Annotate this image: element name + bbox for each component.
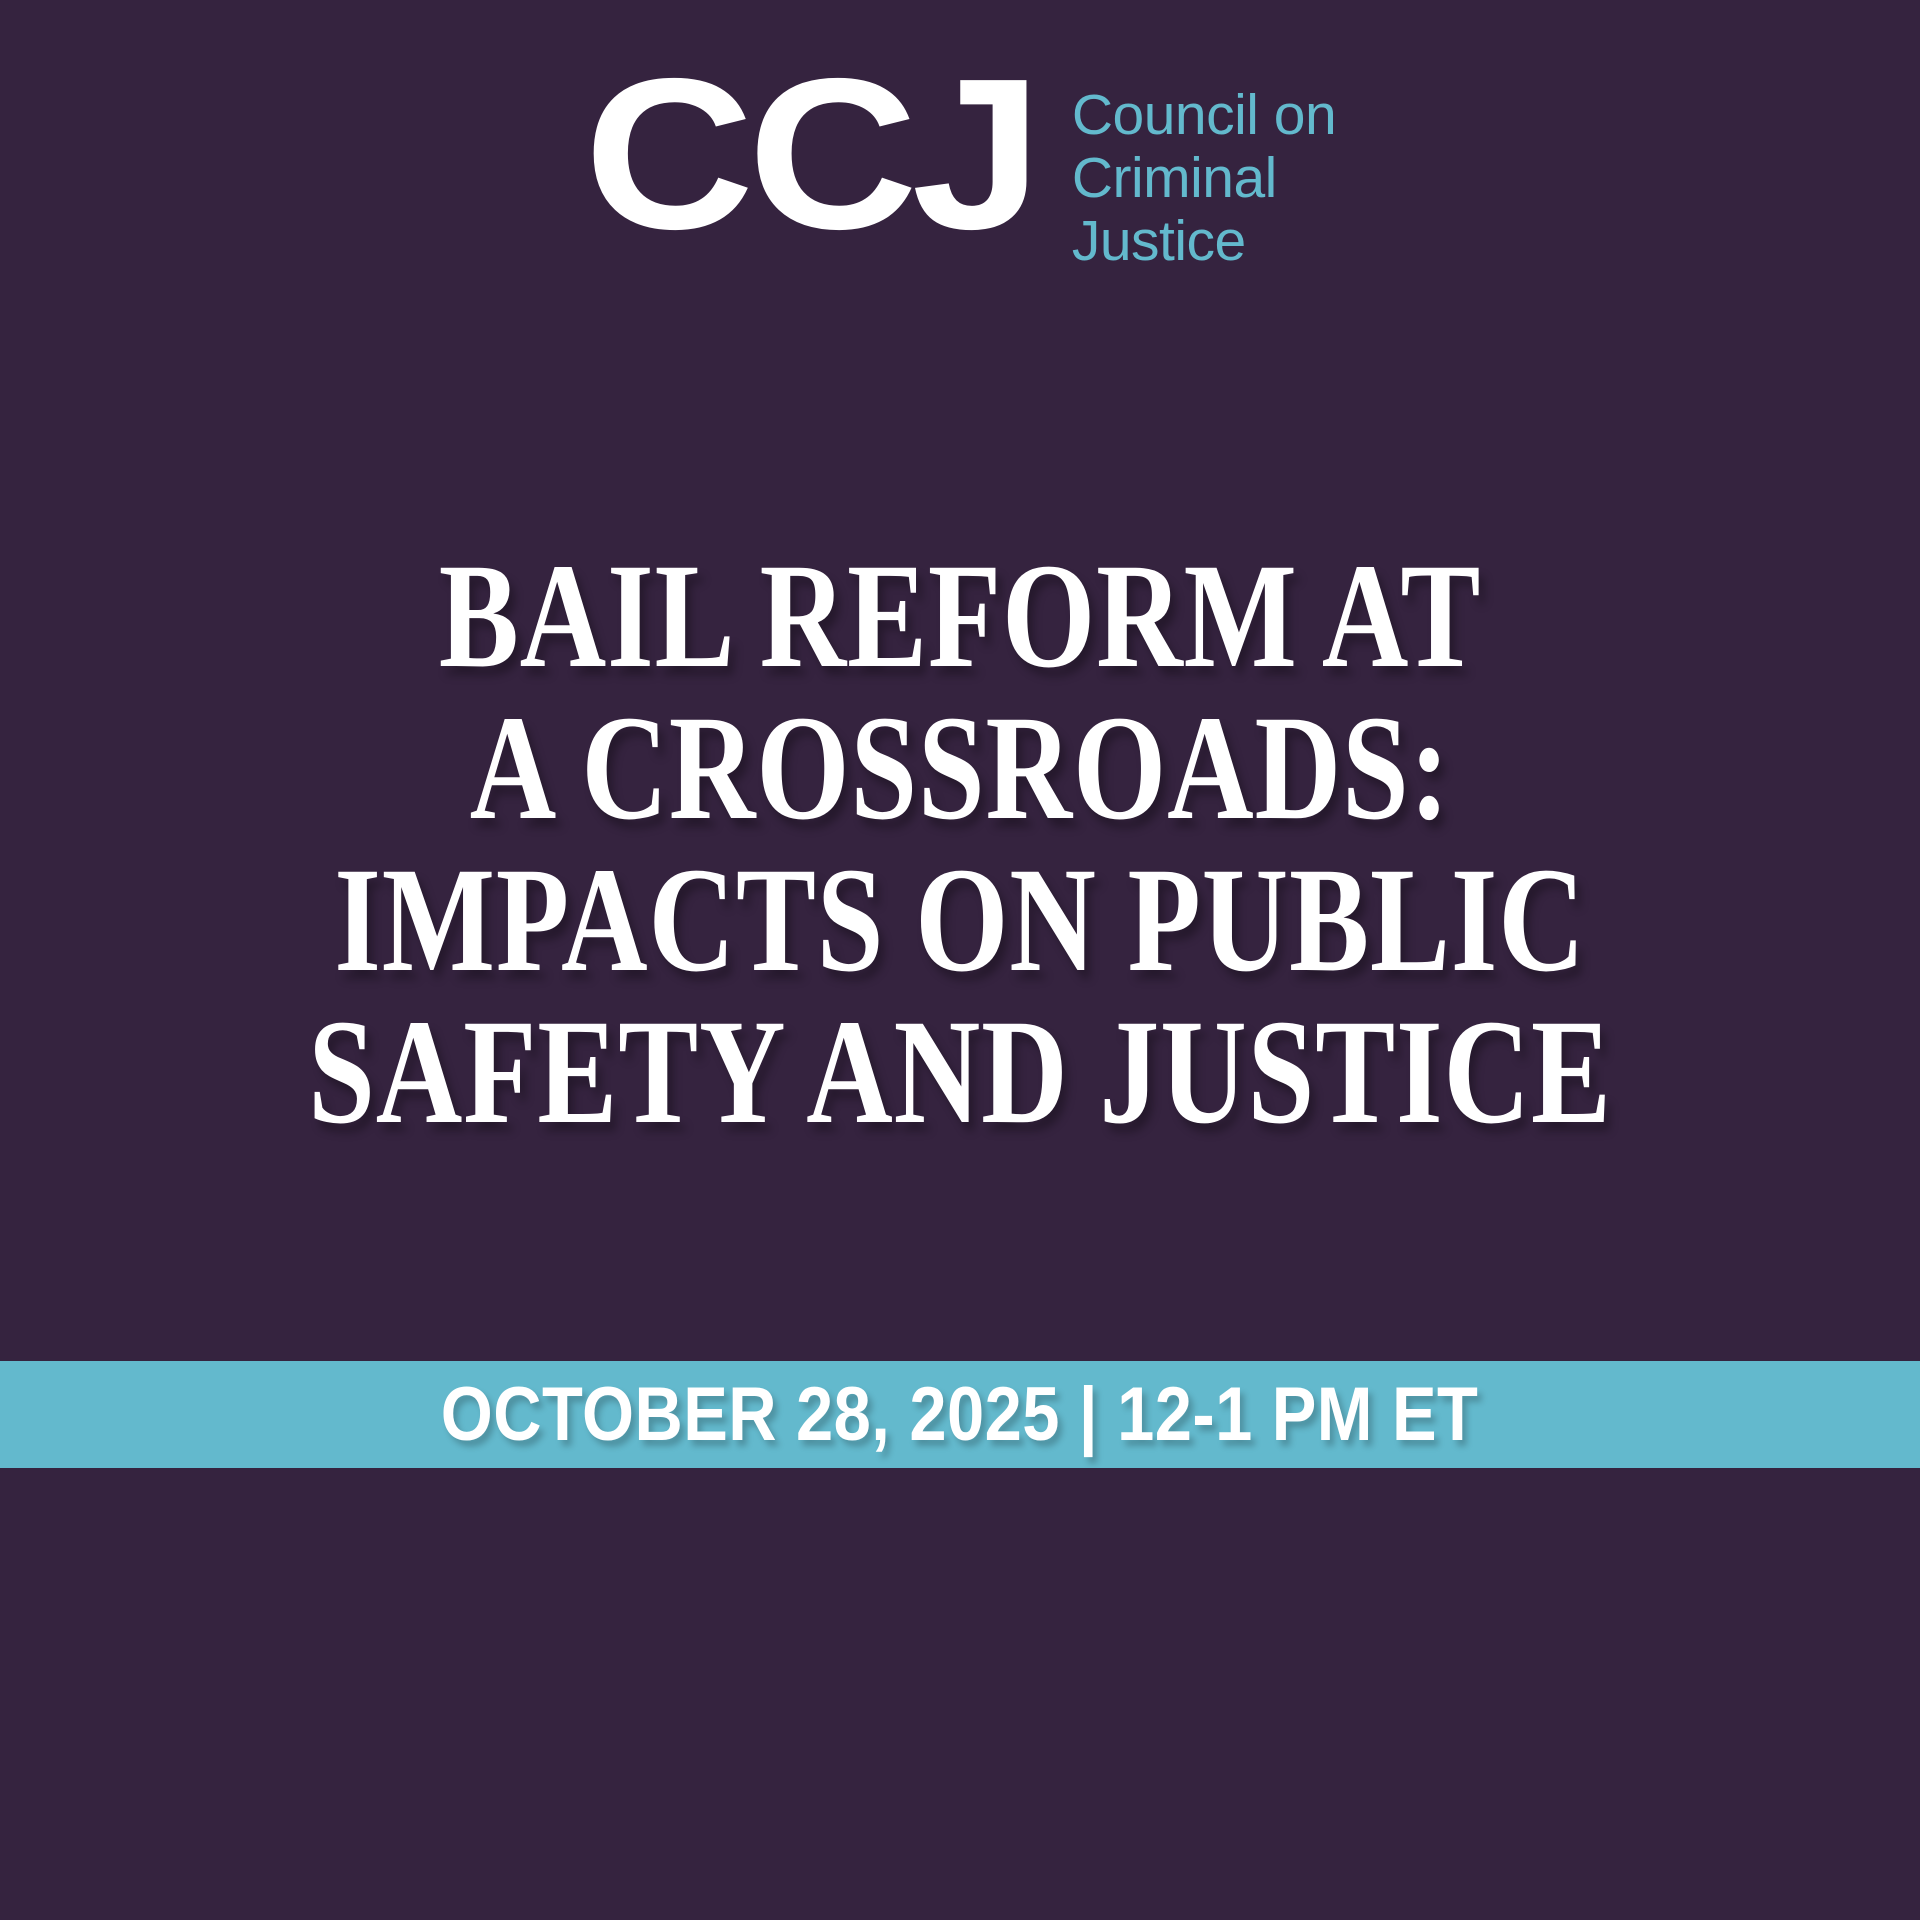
event-title-line-3: IMPACTS ON PUBLIC [192, 844, 1728, 996]
logo-org-line-3: Justice [1072, 210, 1336, 273]
ccj-logo[interactable]: CCJ Council on Criminal Justice [0, 68, 1920, 273]
event-promo-card: CCJ Council on Criminal Justice BAIL REF… [0, 0, 1920, 1920]
event-title-line-4: SAFETY AND JUSTICE [192, 996, 1728, 1148]
logo-org-name: Council on Criminal Justice [1072, 68, 1336, 273]
footer-spacer [0, 1468, 1920, 1920]
event-title: BAIL REFORM AT A CROSSROADS: IMPACTS ON … [0, 540, 1920, 1148]
ccj-wordmark-icon: CCJ [584, 68, 1036, 268]
event-title-line-2: A CROSSROADS: [192, 692, 1728, 844]
logo-org-line-1: Council on [1072, 84, 1336, 147]
event-title-line-1: BAIL REFORM AT [192, 540, 1728, 692]
logo-org-line-2: Criminal [1072, 147, 1336, 210]
event-date-banner: OCTOBER 28, 2025 | 12-1 PM ET [0, 1361, 1920, 1468]
event-date-time-text: OCTOBER 28, 2025 | 12-1 PM ET [441, 1375, 1479, 1455]
svg-text:CCJ: CCJ [584, 68, 1036, 268]
